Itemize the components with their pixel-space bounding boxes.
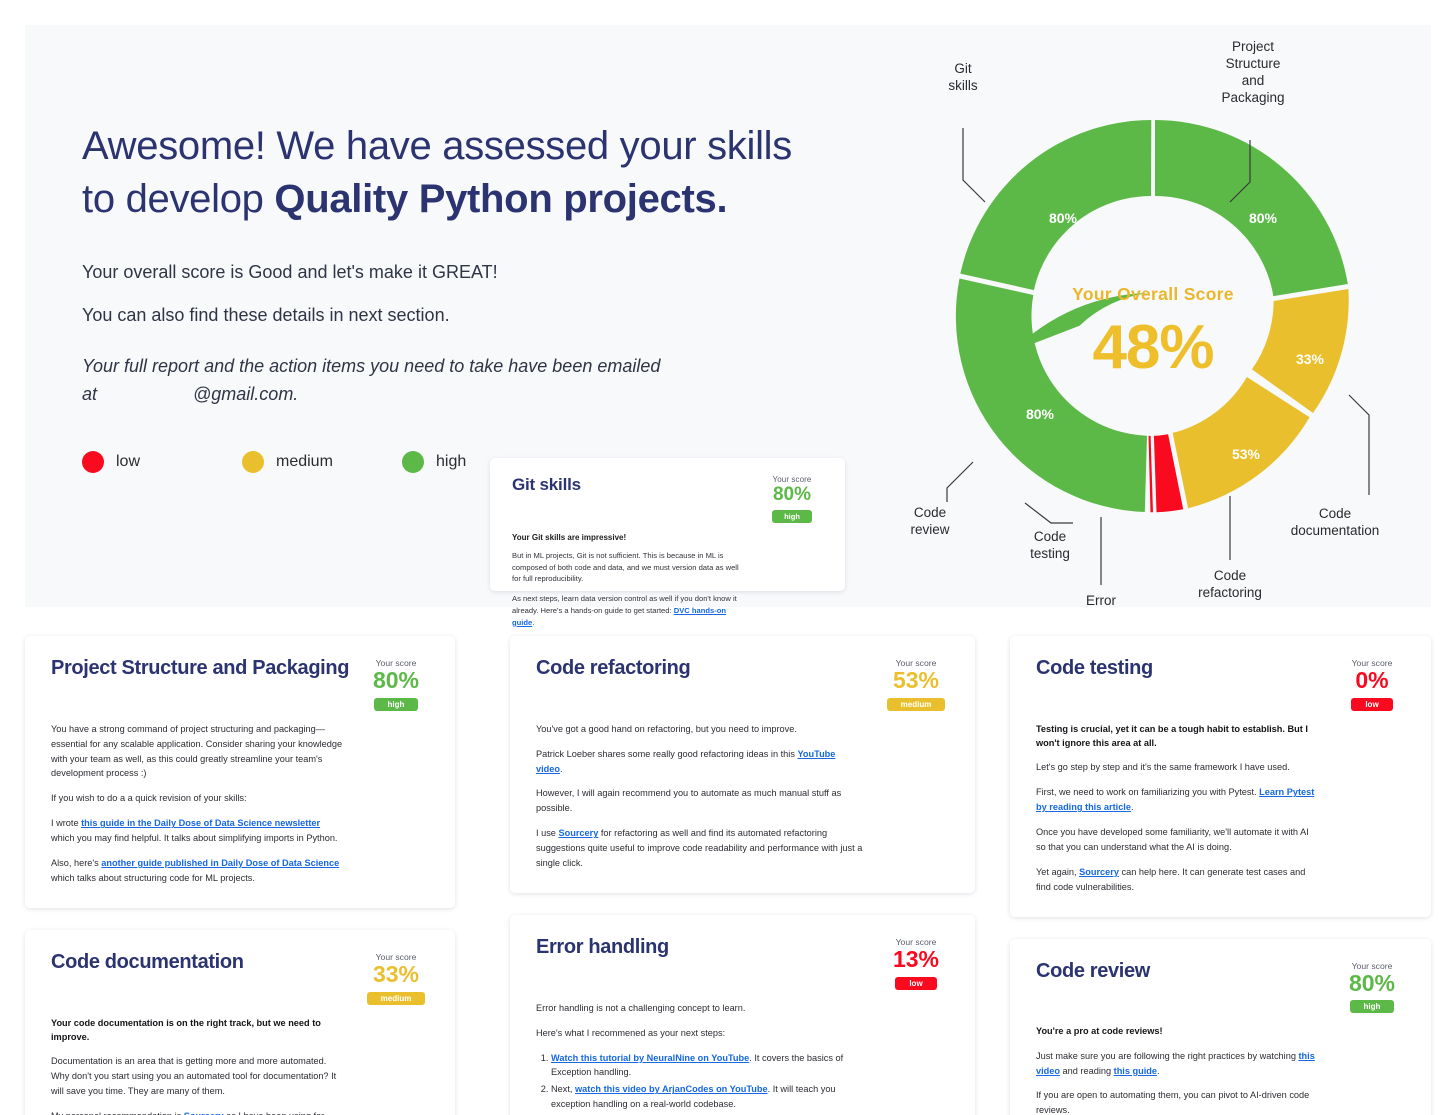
ct-p4: Yet again, Sourcery can help here. It ca…: [1036, 865, 1319, 895]
donut-slice-code-testing[interactable]: [1149, 436, 1154, 512]
donut-label-code-review: Codereview: [910, 505, 949, 537]
ps-p4: Also, here's another guide published in …: [51, 856, 343, 886]
overall-score-sentence: Your overall score is Good and let's mak…: [82, 262, 875, 283]
score-value: 0%: [1339, 668, 1405, 694]
card-error-handling-title: Error handling: [536, 935, 679, 959]
card-project-structure[interactable]: Project Structure and Packaging Your sco…: [25, 636, 455, 908]
list-item: Watch this tutorial by NeuralNine on You…: [551, 1051, 863, 1081]
card-code-testing-header: Code testing Your score 0% low: [1036, 656, 1405, 712]
link-sourcery-refactoring[interactable]: Sourcery: [558, 828, 598, 838]
card-code-refactoring-body: You've got a good hand on refactoring, b…: [536, 722, 949, 871]
leader-line-code-review: [947, 462, 973, 502]
card-code-documentation-header: Code documentation Your score 33% medium: [51, 950, 429, 1006]
link-ddods-another-guide[interactable]: another guide published in Daily Dose of…: [101, 858, 339, 868]
link-sourcery-documentation[interactable]: Sourcery: [184, 1111, 224, 1115]
score-value: 13%: [883, 947, 949, 973]
donut-chart-svg: 80% 80% 33% 53% 80% Your Overall Score 4…: [875, 25, 1431, 607]
cr-p4: I use Sourcery for refactoring as well a…: [536, 826, 863, 871]
ps-p4-pre: Also, here's: [51, 858, 101, 868]
headline-line-1: Awesome! We have assessed your skills: [82, 124, 792, 168]
card-git-skills-lead: Your Git skills are impressive!: [512, 533, 745, 542]
ps-p3-post: which you may find helpful. It talks abo…: [51, 833, 337, 843]
ct-p1: Let's go step by step and it's the same …: [1036, 760, 1319, 775]
status-badge: low: [1351, 698, 1392, 711]
donut-center-value: 48%: [1092, 313, 1213, 382]
card-code-testing-title: Code testing: [1036, 656, 1163, 680]
cd-p2-pre: My personal recommendation is: [51, 1111, 184, 1115]
card-code-refactoring[interactable]: Code refactoring Your score 53% medium Y…: [510, 636, 975, 893]
crv-p1-mid: and reading: [1060, 1066, 1114, 1076]
link-arjancodes-video[interactable]: watch this video by ArjanCodes on YouTub…: [575, 1084, 768, 1094]
donut-value-project-structure: 80%: [1249, 210, 1278, 226]
status-badge: medium: [367, 992, 426, 1005]
score-caption: Your score: [761, 475, 823, 484]
card-project-structure-title: Project Structure and Packaging: [51, 656, 359, 680]
cr-p4-pre: I use: [536, 828, 558, 838]
donut-value-code-documentation: 33%: [1296, 351, 1325, 367]
next-section-sentence: You can also find these details in next …: [82, 305, 875, 326]
cr-p2-post: .: [560, 764, 563, 774]
card-project-structure-score: Your score 80% high: [363, 656, 429, 712]
cd-lead: Your code documentation is on the right …: [51, 1016, 343, 1045]
eh-li2-pre: Next,: [551, 1084, 575, 1094]
page-title: Awesome! We have assessed your skills to…: [82, 120, 822, 226]
donut-value-code-refactoring: 53%: [1232, 446, 1261, 462]
eh-steps-list: Watch this tutorial by NeuralNine on You…: [536, 1051, 863, 1113]
ps-p2: If you wish to do a a quick revision of …: [51, 791, 343, 806]
legend-dot-high-icon: [402, 451, 424, 473]
status-badge: medium: [887, 698, 946, 711]
card-code-testing-score: Your score 0% low: [1339, 656, 1405, 712]
scorecard-page: Awesome! We have assessed your skills to…: [0, 0, 1456, 1115]
donut-label-error-handling: Errorhandling: [1075, 593, 1126, 607]
ps-p3-pre: I wrote: [51, 818, 81, 828]
ct-p3: Once you have developed some familiarity…: [1036, 825, 1319, 855]
card-error-handling-header: Error handling Your score 13% low: [536, 935, 949, 991]
legend-item-low: low: [82, 451, 230, 473]
headline-line-2-prefix: to develop: [82, 177, 274, 221]
crv-p2: If you are open to automating them, you …: [1036, 1088, 1319, 1115]
score-value: 33%: [363, 962, 429, 988]
card-error-handling[interactable]: Error handling Your score 13% low Error …: [510, 915, 975, 1115]
donut-chart: 80% 80% 33% 53% 80% Your Overall Score 4…: [875, 25, 1431, 607]
status-badge: high: [374, 698, 419, 711]
crv-p1-pre: Just make sure you are following the rig…: [1036, 1051, 1298, 1061]
card-code-documentation-body: Your code documentation is on the right …: [51, 1016, 429, 1115]
card-code-review-score: Your score 80% high: [1339, 959, 1405, 1015]
email-note-domain: @gmail.com.: [193, 384, 298, 404]
card-git-skills-p1: But in ML projects, Git is not sufficien…: [512, 550, 745, 585]
card-error-handling-score: Your score 13% low: [883, 935, 949, 991]
card-project-structure-header: Project Structure and Packaging Your sco…: [51, 656, 429, 712]
legend-label-medium: medium: [276, 453, 333, 471]
email-note-prefix: at: [82, 384, 97, 404]
card-code-refactoring-header: Code refactoring Your score 53% medium: [536, 656, 949, 712]
donut-label-git-skills: Gitskills: [948, 61, 977, 93]
leader-line-code-documentation: [1349, 395, 1369, 495]
ct-p2-post: .: [1131, 802, 1134, 812]
legend-dot-medium-icon: [242, 451, 264, 473]
donut-slice-git[interactable]: [960, 120, 1151, 290]
donut-slice-code-refactoring[interactable]: [1173, 377, 1310, 508]
card-code-testing-body: Testing is crucial, yet it can be a toug…: [1036, 722, 1405, 895]
card-code-documentation-score: Your score 33% medium: [363, 950, 429, 1006]
ps-p3: I wrote this guide in the Daily Dose of …: [51, 816, 343, 846]
card-column-2: Code refactoring Your score 53% medium Y…: [510, 636, 1010, 1115]
cr-p2-pre: Patrick Loeber shares some really good r…: [536, 749, 797, 759]
link-sourcery-testing[interactable]: Sourcery: [1079, 867, 1119, 877]
legend-label-low: low: [116, 453, 140, 471]
card-git-skills[interactable]: Git skills Your score 80% high Your Git …: [490, 458, 845, 591]
cr-p3: However, I will again recommend you to a…: [536, 786, 863, 816]
crv-p1-post: .: [1157, 1066, 1160, 1076]
card-column-1: Project Structure and Packaging Your sco…: [25, 636, 510, 1115]
card-code-refactoring-title: Code refactoring: [536, 656, 700, 680]
link-this-guide-review[interactable]: this guide: [1114, 1066, 1157, 1076]
donut-label-code-documentation: Codedocumentation: [1291, 506, 1380, 538]
donut-chart-region: 80% 80% 33% 53% 80% Your Overall Score 4…: [875, 25, 1431, 607]
card-code-documentation-title: Code documentation: [51, 950, 254, 974]
legend-dot-low-icon: [82, 451, 104, 473]
status-badge: high: [1350, 1000, 1395, 1013]
ct-p2-pre: First, we need to work on familiarizing …: [1036, 787, 1259, 797]
card-project-structure-body: You have a strong command of project str…: [51, 722, 429, 886]
donut-center-caption: Your Overall Score: [1072, 284, 1234, 304]
ct-p2: First, we need to work on familiarizing …: [1036, 785, 1319, 815]
status-badge: low: [895, 977, 936, 990]
eh-p1: Error handling is not a challenging conc…: [536, 1001, 863, 1016]
crv-p1: Just make sure you are following the rig…: [1036, 1049, 1319, 1079]
legend-item-medium: medium: [242, 451, 390, 473]
card-code-review[interactable]: Code review Your score 80% high You're a…: [1010, 939, 1431, 1115]
score-value: 80%: [761, 484, 823, 506]
card-git-skills-p2-post: .: [532, 618, 534, 627]
donut-label-code-refactoring: Coderefactoring: [1198, 568, 1262, 600]
donut-label-project-structure: ProjectStructureandPackaging: [1221, 39, 1284, 105]
cd-p1: Documentation is an area that is getting…: [51, 1054, 343, 1099]
card-code-documentation[interactable]: Code documentation Your score 33% medium…: [25, 930, 455, 1115]
card-git-skills-title: Git skills: [512, 475, 581, 495]
link-ddods-newsletter-guide[interactable]: this guide in the Daily Dose of Data Sci…: [81, 818, 320, 828]
eh-p2: Here's what I recommened as your next st…: [536, 1026, 863, 1041]
skills-card-grid: Project Structure and Packaging Your sco…: [25, 636, 1431, 1115]
ct-lead: Testing is crucial, yet it can be a toug…: [1036, 722, 1319, 751]
crv-lead: You're a pro at code reviews!: [1036, 1024, 1319, 1038]
cr-p1: You've got a good hand on refactoring, b…: [536, 722, 863, 737]
legend-label-high: high: [436, 453, 466, 471]
ct-p4-pre: Yet again,: [1036, 867, 1079, 877]
card-code-review-title: Code review: [1036, 959, 1160, 983]
card-column-3: Code testing Your score 0% low Testing i…: [1010, 636, 1431, 1115]
headline-line-2-bold: Quality Python projects.: [274, 177, 727, 221]
score-value: 80%: [363, 668, 429, 694]
card-git-skills-score: Your score 80% high: [761, 475, 823, 524]
score-value: 80%: [1339, 971, 1405, 997]
donut-value-code-review: 80%: [1026, 406, 1055, 422]
card-git-skills-header: Git skills Your score 80% high: [512, 475, 823, 524]
score-value: 53%: [883, 668, 949, 694]
cd-p2: My personal recommendation is Sourcery a…: [51, 1109, 343, 1115]
leader-line-code-testing: [1025, 503, 1073, 523]
link-neuralnine-tutorial[interactable]: Watch this tutorial by NeuralNine on You…: [551, 1053, 749, 1063]
email-note: Your full report and the action items yo…: [82, 352, 682, 410]
card-git-skills-body: Your Git skills are impressive! But in M…: [512, 533, 823, 629]
card-code-testing[interactable]: Code testing Your score 0% low Testing i…: [1010, 636, 1431, 917]
donut-value-git: 80%: [1049, 210, 1078, 226]
cr-p2: Patrick Loeber shares some really good r…: [536, 747, 863, 777]
card-git-skills-p2: As next steps, learn data version contro…: [512, 593, 745, 628]
status-badge: high: [772, 510, 812, 523]
card-code-review-header: Code review Your score 80% high: [1036, 959, 1405, 1015]
list-item: Next, watch this video by ArjanCodes on …: [551, 1082, 863, 1112]
email-note-line-1: Your full report and the action items yo…: [82, 356, 660, 376]
card-error-handling-body: Error handling is not a challenging conc…: [536, 1001, 949, 1115]
donut-slice-project-structure[interactable]: [1155, 120, 1348, 296]
donut-label-code-testing: Codetesting: [1030, 529, 1070, 561]
card-code-review-body: You're a pro at code reviews! Just make …: [1036, 1024, 1405, 1115]
ps-p4-post: which talks about structuring code for M…: [51, 873, 255, 883]
leader-line-git-skills: [963, 128, 985, 202]
card-code-refactoring-score: Your score 53% medium: [883, 656, 949, 712]
ps-p1: You have a strong command of project str…: [51, 722, 343, 782]
